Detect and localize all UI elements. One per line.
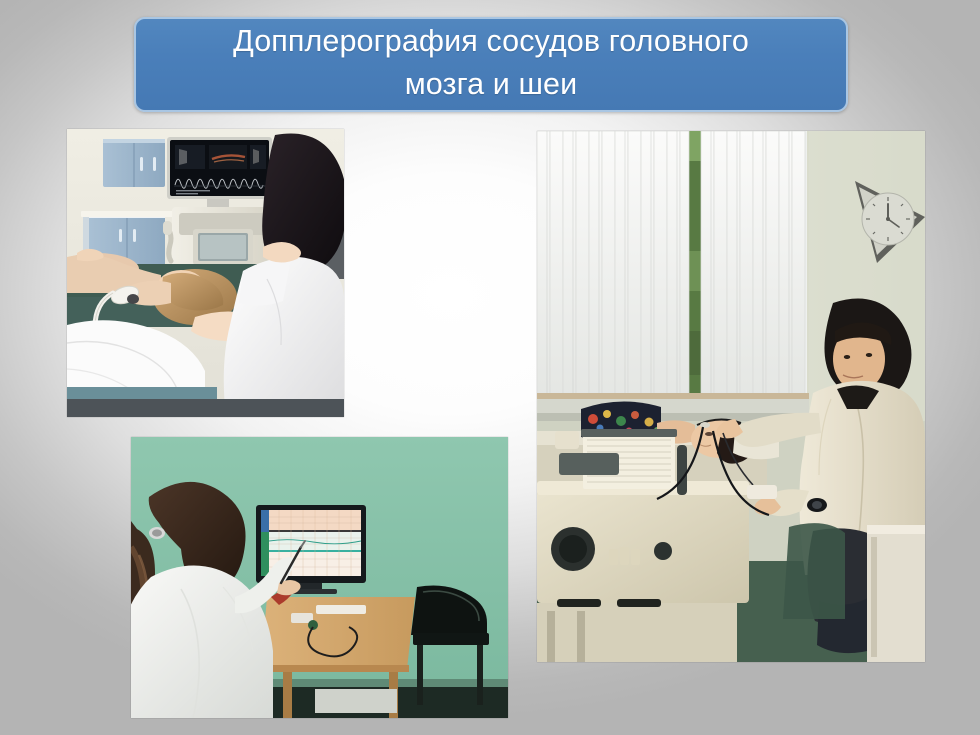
computer-workstation-photo xyxy=(131,437,508,718)
computer-photo-illustration xyxy=(131,437,508,718)
slide-canvas: Допплерография сосудов головного мозга и… xyxy=(0,0,980,735)
slide-title-banner: Допплерография сосудов головного мозга и… xyxy=(134,17,848,112)
title-line-2: мозга и шеи xyxy=(405,67,578,101)
ultrasound-photo-illustration xyxy=(67,129,344,417)
ultrasound-examination-photo xyxy=(67,129,344,417)
page-title: Допплерография сосудов головного мозга и… xyxy=(233,20,749,104)
title-line-1: Допплерография сосудов головного xyxy=(233,24,749,58)
eeg-photo-illustration xyxy=(537,131,925,662)
eeg-examination-photo xyxy=(537,131,925,662)
